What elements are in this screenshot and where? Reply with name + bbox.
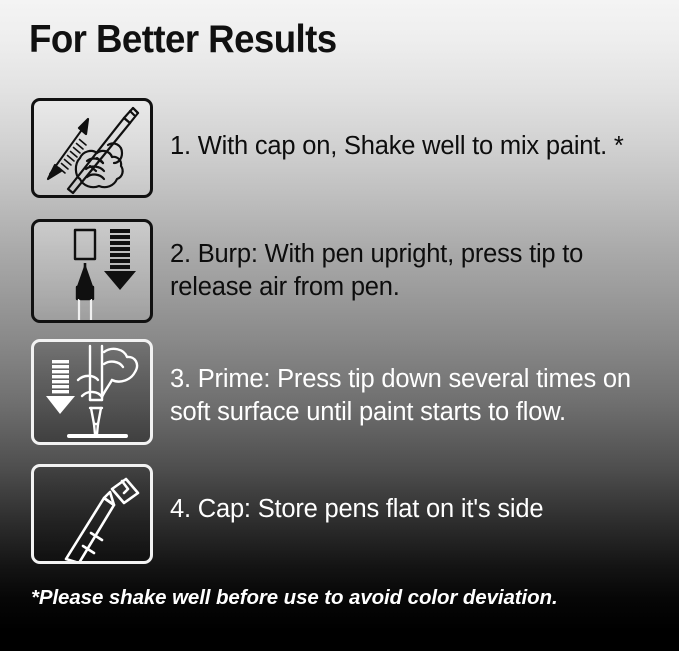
step-3-text: 3. Prime: Press tip down several times o… [170,363,670,429]
cap-store-flat-icon [31,464,153,564]
instruction-panel: For Better Results [0,0,679,651]
step-4-text: 4. Cap: Store pens flat on it's side [170,493,670,526]
step-1-text: 1. With cap on, Shake well to mix paint.… [170,130,670,163]
footnote-text: *Please shake well before use to avoid c… [31,586,558,610]
burp-pen-upright-icon [31,219,153,323]
step-2-text: 2. Burp: With pen upright, press tip to … [170,238,670,304]
page-title: For Better Results [29,18,337,62]
shake-pen-in-hand-icon [31,98,153,198]
prime-press-tip-icon [31,339,153,445]
